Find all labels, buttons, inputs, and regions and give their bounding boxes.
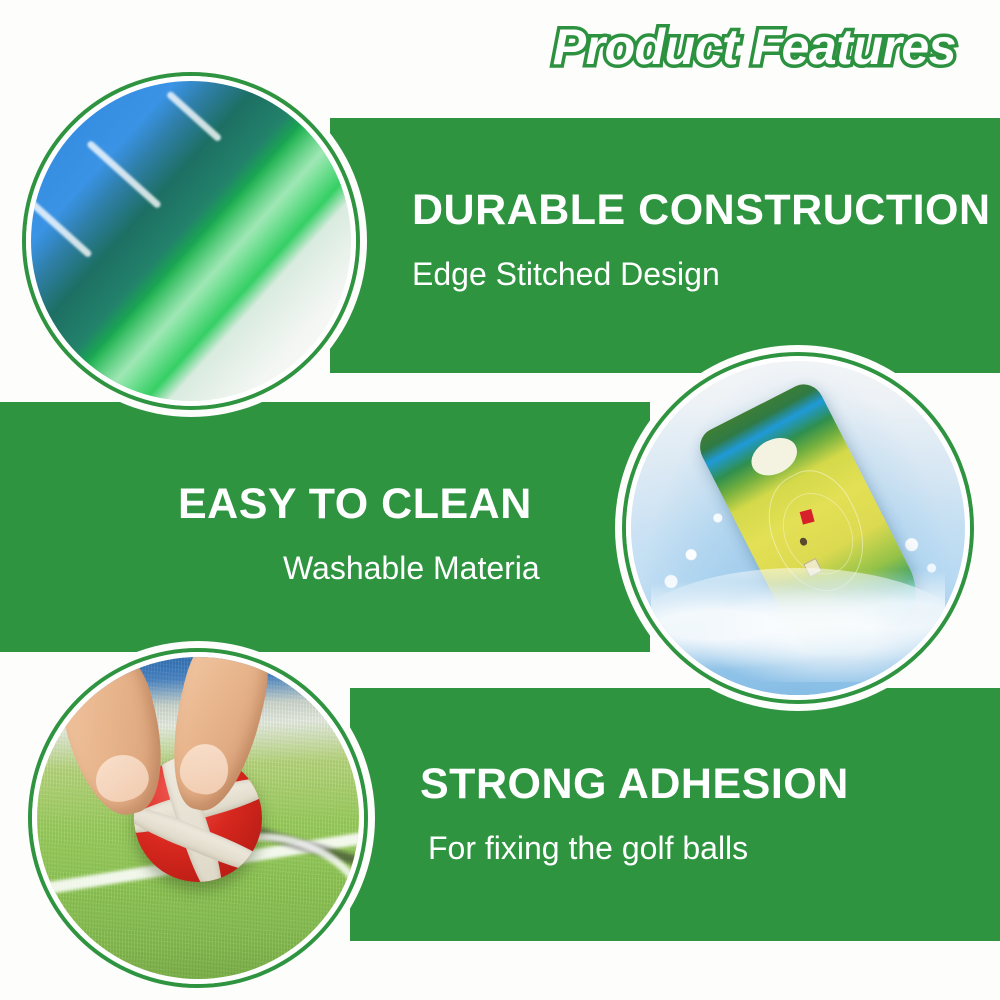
hand (63, 652, 269, 857)
photo-mat-in-water (631, 361, 965, 695)
feature-image-durable-construction (22, 72, 360, 410)
water-surface (626, 568, 970, 700)
feature-heading: DURABLE CONSTRUCTION (412, 188, 991, 233)
circle-frame (26, 76, 356, 406)
mat-stripe (26, 193, 92, 258)
fingernail (175, 739, 233, 799)
feature-image-easy-to-clean (622, 352, 974, 704)
feature-subheading: Washable Materia (283, 551, 540, 586)
page-title: Product Features (553, 22, 956, 72)
thumb (47, 652, 178, 824)
feature-subheading: For fixing the golf balls (428, 831, 849, 866)
feature-image-strong-adhesion (28, 648, 368, 988)
feature-text-strong-adhesion: STRONG ADHESION For fixing the golf ball… (420, 762, 849, 866)
photo-hand-placing-ball (37, 657, 359, 979)
mat-stripe (86, 139, 162, 208)
index-finger (157, 652, 281, 818)
feature-heading: EASY TO CLEAN (178, 482, 540, 527)
circle-frame (626, 356, 970, 700)
feature-text-easy-to-clean: EASY TO CLEAN Washable Materia (178, 482, 540, 586)
feature-heading: STRONG ADHESION (420, 762, 849, 807)
thumbnail (91, 750, 153, 807)
circle-frame (32, 652, 364, 984)
feature-text-durable-construction: DURABLE CONSTRUCTION Edge Stitched Desig… (412, 188, 991, 292)
mat-sheen (77, 76, 356, 406)
photo-mat-edge-stitching (31, 81, 351, 401)
mat-stripe (166, 90, 223, 142)
product-features-infographic: Product Features DURABLE CONSTRUCTION Ed… (0, 0, 1000, 1000)
feature-subheading: Edge Stitched Design (412, 257, 991, 292)
